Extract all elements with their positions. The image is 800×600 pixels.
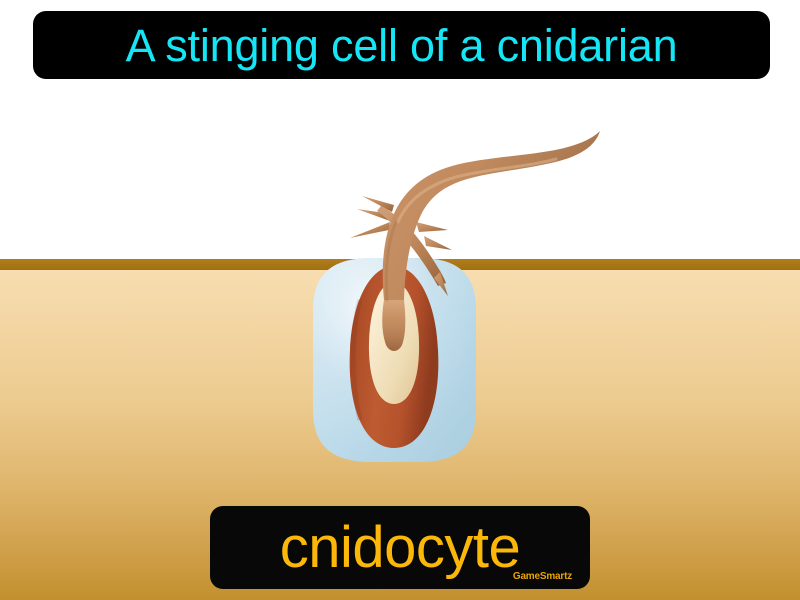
definition-text: A stinging cell of a cnidarian bbox=[126, 23, 678, 68]
term-plaque: cnidocyte GameSmartz bbox=[210, 506, 590, 589]
flashcard: A stinging cell of a cnidarian cnidocyte… bbox=[0, 0, 800, 600]
term-text: cnidocyte bbox=[280, 519, 521, 577]
definition-plaque: A stinging cell of a cnidarian bbox=[33, 11, 770, 79]
watermark-label: GameSmartz bbox=[513, 571, 572, 582]
